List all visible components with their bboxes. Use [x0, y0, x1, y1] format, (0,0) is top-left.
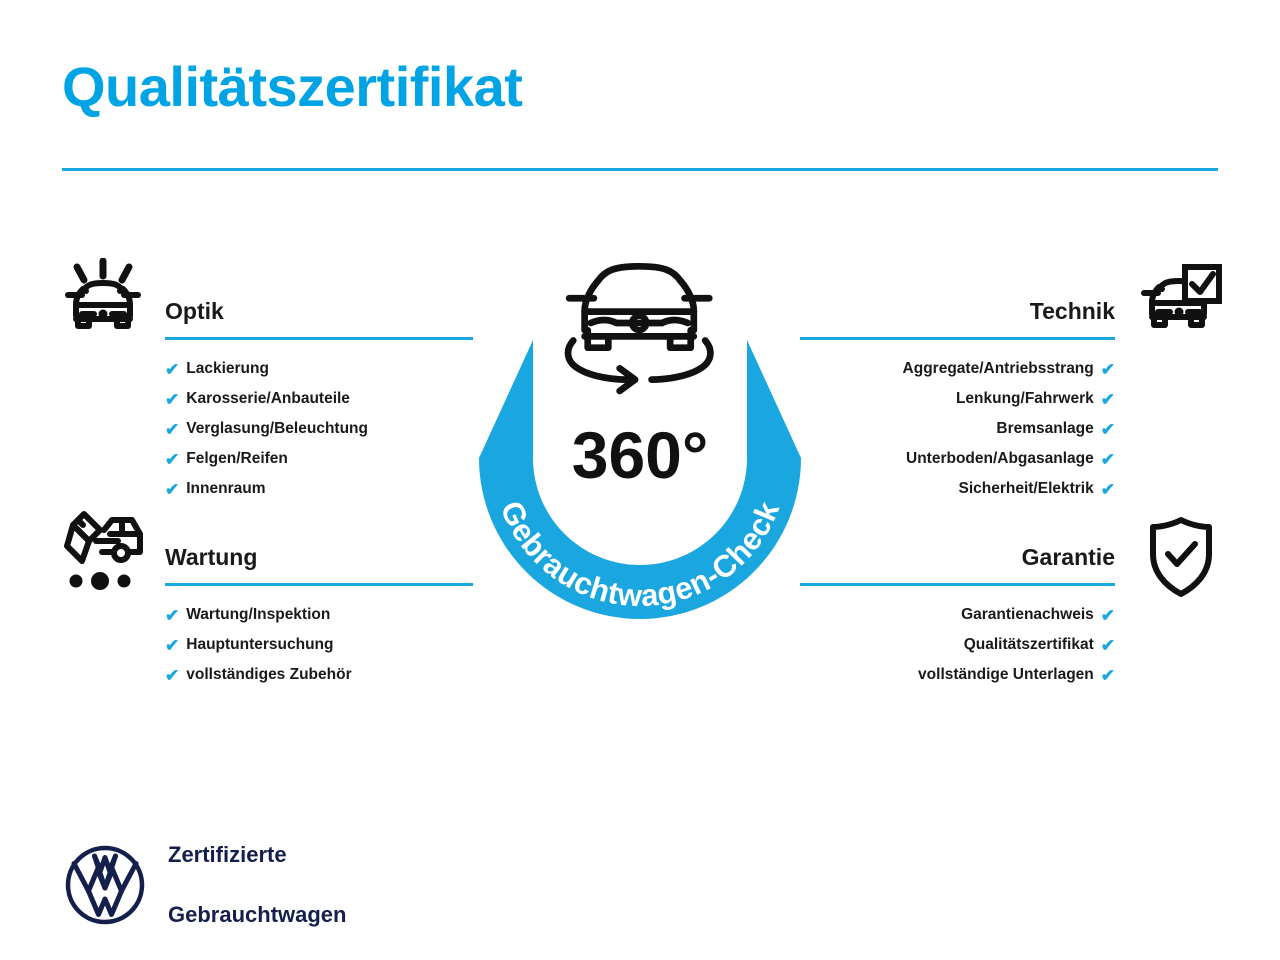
- list-item: vollständige Unterlagen ✔: [800, 660, 1115, 690]
- badge-value: 360°: [572, 418, 709, 492]
- section-divider-wartung: [165, 583, 473, 586]
- list-item-label: Innenraum: [186, 474, 265, 504]
- section-optik: Optik ✔ Lackierung ✔ Karosserie/Anbautei…: [165, 296, 473, 504]
- section-technik: Technik Aggregate/Antriebsstrang ✔ Lenku…: [800, 296, 1115, 504]
- list-item-label: vollständige Unterlagen: [918, 660, 1094, 690]
- header-divider: [62, 168, 1218, 171]
- section-divider-technik: [800, 337, 1115, 340]
- footer-logo-text: Zertifizierte Gebrauchtwagen: [168, 810, 346, 960]
- check-icon: ✔: [1101, 361, 1115, 378]
- check-icon: ✔: [165, 361, 179, 378]
- list-item-label: Lackierung: [186, 354, 269, 384]
- list-item: ✔ Felgen/Reifen: [165, 444, 473, 474]
- car-checkbox-icon: [1138, 264, 1224, 349]
- check-icon: ✔: [165, 481, 179, 498]
- list-item: Unterboden/Abgasanlage ✔: [800, 444, 1115, 474]
- list-item: ✔ Lackierung: [165, 354, 473, 384]
- list-item-label: Lenkung/Fahrwerk: [956, 384, 1094, 414]
- footer-logo-line2: Gebrauchtwagen: [168, 900, 346, 930]
- list-item-label: Wartung/Inspektion: [186, 600, 330, 630]
- check-icon: ✔: [1101, 637, 1115, 654]
- list-item: Aggregate/Antriebsstrang ✔: [800, 354, 1115, 384]
- list-item: ✔ Wartung/Inspektion: [165, 600, 473, 630]
- checklist-wartung: ✔ Wartung/Inspektion ✔ Hauptuntersuchung…: [165, 600, 473, 690]
- list-item-label: Unterboden/Abgasanlage: [906, 444, 1094, 474]
- certificate-page: Qualitätszertifikat: [0, 0, 1280, 960]
- check-icon: ✔: [1101, 391, 1115, 408]
- list-item: Bremsanlage ✔: [800, 414, 1115, 444]
- section-header-wartung: Wartung: [165, 542, 473, 586]
- check-icon: ✔: [1101, 667, 1115, 684]
- check-icon: ✔: [165, 421, 179, 438]
- list-item: Qualitätszertifikat ✔: [800, 630, 1115, 660]
- list-item-label: Garantienachweis: [961, 600, 1094, 630]
- section-title-garantie: Garantie: [800, 542, 1115, 572]
- check-icon: ✔: [165, 451, 179, 468]
- vw-logo: [64, 844, 146, 926]
- car-rotate-360-icon: [568, 266, 710, 391]
- section-title-technik: Technik: [800, 296, 1115, 326]
- list-item-label: Sicherheit/Elektrik: [958, 474, 1093, 504]
- list-item-label: Hauptuntersuchung: [186, 630, 333, 660]
- car-shine-icon: [62, 258, 144, 349]
- badge-360-gebrauchtwagen-check: Gebrauchtwagen-Check 360°: [455, 245, 825, 645]
- list-item: ✔ Hauptuntersuchung: [165, 630, 473, 660]
- shield-check-icon: [1146, 516, 1216, 603]
- list-item-label: Qualitätszertifikat: [964, 630, 1094, 660]
- section-divider-optik: [165, 337, 473, 340]
- page-title: Qualitätszertifikat: [62, 58, 522, 117]
- section-garantie: Garantie Garantienachweis ✔ Qualitätszer…: [800, 542, 1115, 690]
- section-wartung: Wartung ✔ Wartung/Inspektion ✔ Hauptunte…: [165, 542, 473, 690]
- check-icon: ✔: [165, 607, 179, 624]
- section-header-optik: Optik: [165, 296, 473, 340]
- checklist-garantie: Garantienachweis ✔ Qualitätszertifikat ✔…: [800, 600, 1115, 690]
- checklist-technik: Aggregate/Antriebsstrang ✔ Lenkung/Fahrw…: [800, 354, 1115, 504]
- list-item-label: Bremsanlage: [996, 414, 1093, 444]
- check-icon: ✔: [165, 637, 179, 654]
- section-title-optik: Optik: [165, 296, 473, 326]
- checklist-optik: ✔ Lackierung ✔ Karosserie/Anbauteile ✔ V…: [165, 354, 473, 504]
- footer-logo-line1: Zertifizierte: [168, 840, 346, 870]
- list-item-label: Verglasung/Beleuchtung: [186, 414, 368, 444]
- list-item: ✔ Innenraum: [165, 474, 473, 504]
- list-item-label: Felgen/Reifen: [186, 444, 288, 474]
- list-item: ✔ Verglasung/Beleuchtung: [165, 414, 473, 444]
- check-icon: ✔: [1101, 451, 1115, 468]
- check-icon: ✔: [165, 667, 179, 684]
- list-item: Garantienachweis ✔: [800, 600, 1115, 630]
- list-item: Sicherheit/Elektrik ✔: [800, 474, 1115, 504]
- section-title-wartung: Wartung: [165, 542, 473, 572]
- check-icon: ✔: [1101, 481, 1115, 498]
- list-item: ✔ vollständiges Zubehör: [165, 660, 473, 690]
- list-item: Lenkung/Fahrwerk ✔: [800, 384, 1115, 414]
- list-item-label: vollständiges Zubehör: [186, 660, 351, 690]
- list-item-label: Aggregate/Antriebsstrang: [903, 354, 1094, 384]
- check-icon: ✔: [165, 391, 179, 408]
- section-header-technik: Technik: [800, 296, 1115, 340]
- check-icon: ✔: [1101, 607, 1115, 624]
- list-item-label: Karosserie/Anbauteile: [186, 384, 350, 414]
- list-item: ✔ Karosserie/Anbauteile: [165, 384, 473, 414]
- vw-certified-logo: Zertifizierte Gebrauchtwagen: [64, 810, 346, 960]
- car-service-pencil-icon: [60, 508, 150, 599]
- check-icon: ✔: [1101, 421, 1115, 438]
- section-header-garantie: Garantie: [800, 542, 1115, 586]
- section-divider-garantie: [800, 583, 1115, 586]
